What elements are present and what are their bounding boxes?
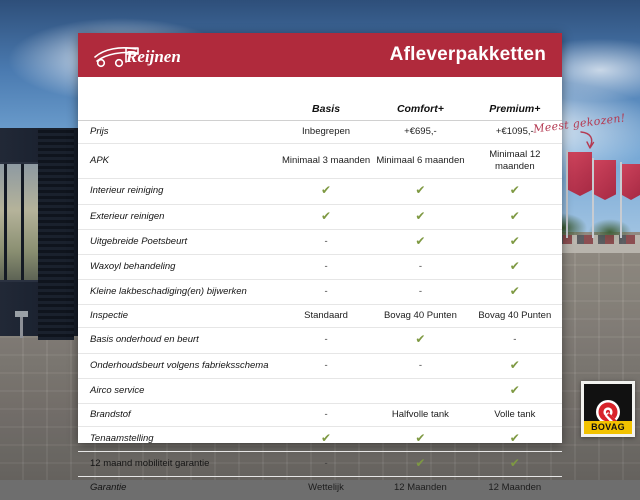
bovag-badge: BOVAG <box>581 381 635 437</box>
check-icon: ✔ <box>415 234 425 248</box>
cell-basis: Standaard <box>279 305 373 328</box>
check-icon: ✔ <box>510 183 520 197</box>
table-row: APKMinimaal 3 maandenMinimaal 6 maandenM… <box>78 144 562 179</box>
cell-premium: ✔ <box>468 427 562 452</box>
check-icon: ✔ <box>510 234 520 248</box>
table-header-row: Basis Comfort+ Premium+ <box>78 77 562 121</box>
cell-premium: ✔ <box>468 229 562 254</box>
row-label: Tenaamstelling <box>78 427 279 452</box>
car-logo-icon: Reijnen <box>92 40 188 70</box>
cell-comfort: - <box>373 280 467 305</box>
page-title: Afleverpakketten <box>390 44 546 66</box>
parking-lamp-post <box>20 316 23 338</box>
check-icon: ✔ <box>510 209 520 223</box>
check-icon: ✔ <box>321 183 331 197</box>
cell-comfort: - <box>373 353 467 378</box>
column-header-feature <box>78 77 279 121</box>
row-label: Garantie <box>78 477 279 500</box>
dash-icon: - <box>324 334 327 345</box>
cell-basis: ✔ <box>279 179 373 204</box>
check-icon: ✔ <box>321 431 331 445</box>
row-label: APK <box>78 144 279 179</box>
table-row: Exterieur reinigen✔✔✔ <box>78 204 562 229</box>
row-label: Airco service <box>78 378 279 403</box>
row-label: Kleine lakbeschadiging(en) bijwerken <box>78 280 279 305</box>
cell-basis: Inbegrepen <box>279 121 373 144</box>
check-icon: ✔ <box>510 383 520 397</box>
check-icon: ✔ <box>415 431 425 445</box>
cell-basis: - <box>279 254 373 279</box>
check-icon: ✔ <box>510 358 520 372</box>
cell-basis: - <box>279 280 373 305</box>
column-header-basis: Basis <box>279 77 373 121</box>
row-label: Prijs <box>78 121 279 144</box>
dash-icon: - <box>419 286 422 297</box>
dealer-flag <box>622 164 640 200</box>
cell-comfort: Halfvolle tank <box>373 403 467 426</box>
cell-comfort: ✔ <box>373 204 467 229</box>
cell-premium: Bovag 40 Punten <box>468 305 562 328</box>
dealer-flag <box>568 152 592 196</box>
cell-premium: ✔ <box>468 204 562 229</box>
row-label: Onderhoudsbeurt volgens fabrieksschema <box>78 353 279 378</box>
table-row: Kleine lakbeschadiging(en) bijwerken--✔ <box>78 280 562 305</box>
row-label: Brandstof <box>78 403 279 426</box>
table-body: PrijsInbegrepen+€695,-+€1095,-APKMinimaa… <box>78 121 562 500</box>
cell-comfort: - <box>373 254 467 279</box>
check-icon: ✔ <box>415 456 425 470</box>
column-header-premium: Premium+ <box>468 77 562 121</box>
cell-premium: - <box>468 328 562 353</box>
table-row: Basis onderhoud en beurt-✔- <box>78 328 562 353</box>
cell-comfort: Bovag 40 Punten <box>373 305 467 328</box>
row-label: Waxoyl behandeling <box>78 254 279 279</box>
row-label: Interieur reiniging <box>78 179 279 204</box>
cell-comfort <box>373 378 467 403</box>
table-row: Airco service✔ <box>78 378 562 403</box>
table-row: InspectieStandaardBovag 40 PuntenBovag 4… <box>78 305 562 328</box>
cell-basis: - <box>279 229 373 254</box>
table-row: Onderhoudsbeurt volgens fabrieksschema--… <box>78 353 562 378</box>
bovag-label: BOVAG <box>584 421 632 434</box>
table-row: Interieur reiniging✔✔✔ <box>78 179 562 204</box>
cell-basis: - <box>279 353 373 378</box>
dash-icon: - <box>419 360 422 371</box>
cell-premium: Volle tank <box>468 403 562 426</box>
table-row: Uitgebreide Poetsbeurt-✔✔ <box>78 229 562 254</box>
row-label: 12 maand mobiliteit garantie <box>78 452 279 477</box>
dealer-flag <box>594 160 616 200</box>
cell-premium: ✔ <box>468 378 562 403</box>
bovag-badge-inner: BOVAG <box>584 384 632 434</box>
check-icon: ✔ <box>321 209 331 223</box>
check-icon: ✔ <box>415 332 425 346</box>
reijnen-logo[interactable]: Reijnen <box>92 40 188 70</box>
cell-basis: ✔ <box>279 427 373 452</box>
table-row: GarantieWettelijk12 Maanden12 Maanden <box>78 477 562 500</box>
dash-icon: - <box>324 360 327 371</box>
cell-comfort: ✔ <box>373 179 467 204</box>
flag-pole <box>620 162 622 238</box>
cell-basis: Wettelijk <box>279 477 373 500</box>
cell-basis: ✔ <box>279 204 373 229</box>
cell-premium: 12 Maanden <box>468 477 562 500</box>
check-icon: ✔ <box>415 209 425 223</box>
cell-comfort: +€695,- <box>373 121 467 144</box>
flag-pole <box>566 150 568 238</box>
cell-comfort: 12 Maanden <box>373 477 467 500</box>
table-row: Brandstof-Halfvolle tankVolle tank <box>78 403 562 426</box>
dash-icon: - <box>513 334 516 345</box>
building-windows <box>0 162 38 282</box>
row-label: Inspectie <box>78 305 279 328</box>
cell-premium: ✔ <box>468 179 562 204</box>
packages-comparison-table: Basis Comfort+ Premium+ PrijsInbegrepen+… <box>78 77 562 500</box>
cell-premium: ✔ <box>468 280 562 305</box>
column-header-comfort: Comfort+ <box>373 77 467 121</box>
row-label: Exterieur reinigen <box>78 204 279 229</box>
cell-basis: Minimaal 3 maanden <box>279 144 373 179</box>
building-side-cladding <box>38 128 74 340</box>
dash-icon: - <box>324 286 327 297</box>
cell-comfort: ✔ <box>373 328 467 353</box>
cell-comfort: ✔ <box>373 452 467 477</box>
cell-premium: ✔ <box>468 353 562 378</box>
dash-icon: - <box>324 236 327 247</box>
table-row: Waxoyl behandeling--✔ <box>78 254 562 279</box>
svg-text:Reijnen: Reijnen <box>125 47 181 66</box>
table-row: PrijsInbegrepen+€695,-+€1095,- <box>78 121 562 144</box>
dash-icon: - <box>324 409 327 420</box>
table-row: 12 maand mobiliteit garantie-✔✔ <box>78 452 562 477</box>
cell-premium: Minimaal 12 maanden <box>468 144 562 179</box>
dash-icon: - <box>419 261 422 272</box>
dash-icon: - <box>324 261 327 272</box>
card-header: Reijnen Afleverpakketten <box>78 33 562 77</box>
cell-premium: ✔ <box>468 254 562 279</box>
table-row: Tenaamstelling✔✔✔ <box>78 427 562 452</box>
cell-comfort: Minimaal 6 maanden <box>373 144 467 179</box>
cell-premium: ✔ <box>468 452 562 477</box>
check-icon: ✔ <box>510 456 520 470</box>
cell-basis <box>279 378 373 403</box>
cell-basis: - <box>279 452 373 477</box>
check-icon: ✔ <box>510 284 520 298</box>
cell-comfort: ✔ <box>373 229 467 254</box>
cell-basis: - <box>279 403 373 426</box>
row-label: Uitgebreide Poetsbeurt <box>78 229 279 254</box>
check-icon: ✔ <box>510 259 520 273</box>
row-label: Basis onderhoud en beurt <box>78 328 279 353</box>
afleverpakketten-card: Reijnen Afleverpakketten Basis Comfort+ … <box>78 33 562 443</box>
check-icon: ✔ <box>415 183 425 197</box>
cell-comfort: ✔ <box>373 427 467 452</box>
check-icon: ✔ <box>510 431 520 445</box>
cell-basis: - <box>279 328 373 353</box>
cell-premium: +€1095,- <box>468 121 562 144</box>
dash-icon: - <box>324 458 327 469</box>
flag-pole <box>592 158 594 238</box>
